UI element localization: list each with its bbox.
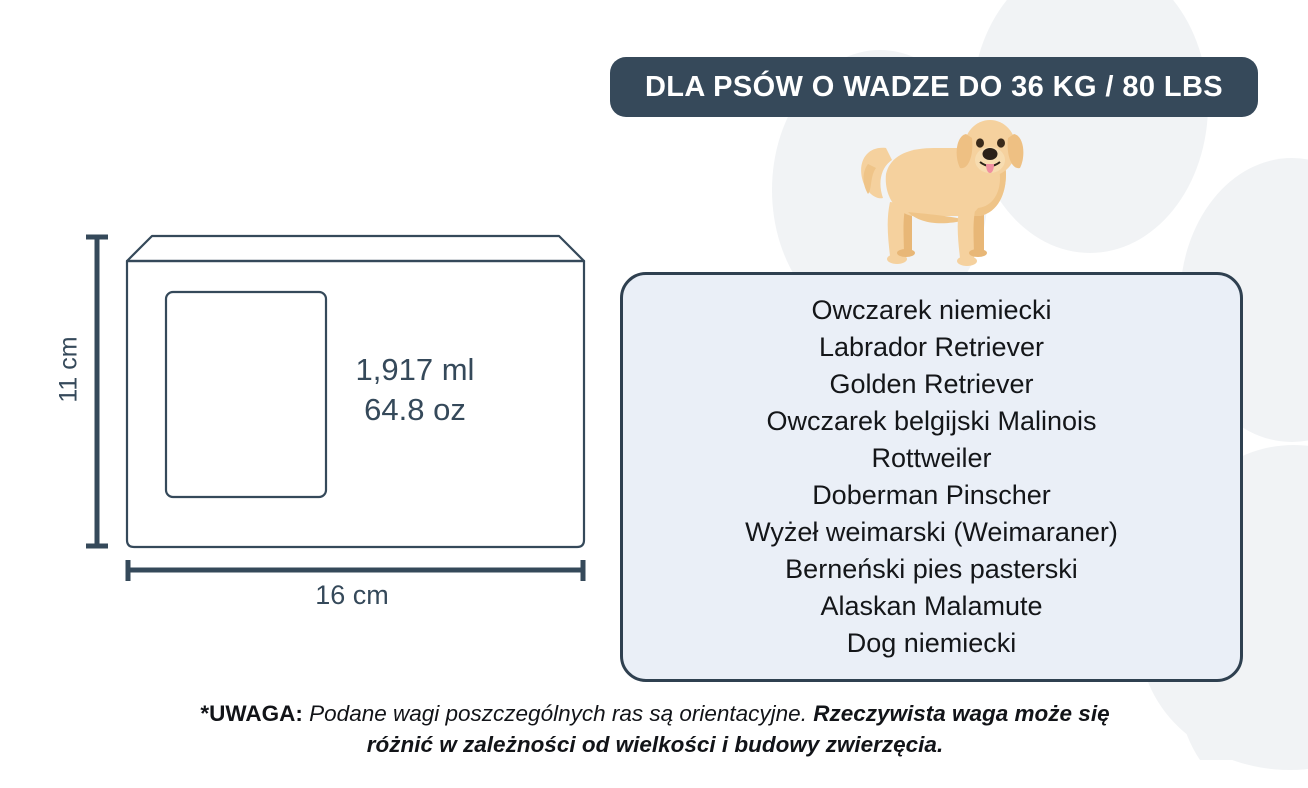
list-item: Labrador Retriever xyxy=(623,329,1240,366)
width-dimension-label: 16 cm xyxy=(122,580,582,611)
breed-list-card: Owczarek niemiecki Labrador Retriever Go… xyxy=(620,272,1243,682)
header-title: DLA PSÓW O WADZE DO 36 KG / 80 LBS xyxy=(645,71,1223,104)
height-dimension-label: 11 cm xyxy=(55,336,84,402)
list-item: Dog niemiecki xyxy=(623,625,1240,662)
volume-milliliters-label: 1,917 ml xyxy=(300,352,530,388)
width-dimension-line xyxy=(127,560,584,581)
golden-retriever-dog-icon xyxy=(856,112,1034,272)
volume-ounces-label: 64.8 oz xyxy=(300,392,530,428)
dog-nose xyxy=(983,148,998,160)
box-lid-bevel xyxy=(127,236,584,261)
list-item: Rottweiler xyxy=(623,440,1240,477)
list-item: Berneński pies pasterski xyxy=(623,551,1240,588)
footnote-label: *UWAGA: xyxy=(200,701,303,726)
list-item: Doberman Pinscher xyxy=(623,477,1240,514)
header-banner: DLA PSÓW O WADZE DO 36 KG / 80 LBS xyxy=(610,57,1258,117)
footnote-disclaimer: *UWAGA: Podane wagi poszczególnych ras s… xyxy=(180,698,1130,760)
footnote-body: Podane wagi poszczególnych ras są orient… xyxy=(303,701,813,726)
dog-paw-hind-far xyxy=(897,249,915,257)
dog-eye-left xyxy=(976,138,984,147)
list-item: Wyżeł weimarski (Weimaraner) xyxy=(623,514,1240,551)
list-item: Owczarek niemiecki xyxy=(623,292,1240,329)
breed-list: Owczarek niemiecki Labrador Retriever Go… xyxy=(623,292,1240,662)
infographic-canvas: DLA PSÓW O WADZE DO 36 KG / 80 LBS xyxy=(0,0,1308,788)
list-item: Owczarek belgijski Malinois xyxy=(623,403,1240,440)
list-item: Alaskan Malamute xyxy=(623,588,1240,625)
dog-eye-right xyxy=(997,138,1005,147)
dog-paw-front xyxy=(957,256,977,266)
dog-paw-front-far xyxy=(969,249,987,257)
list-item: Golden Retriever xyxy=(623,366,1240,403)
dog-hind-leg-near xyxy=(888,202,906,256)
height-dimension-line xyxy=(86,236,108,547)
